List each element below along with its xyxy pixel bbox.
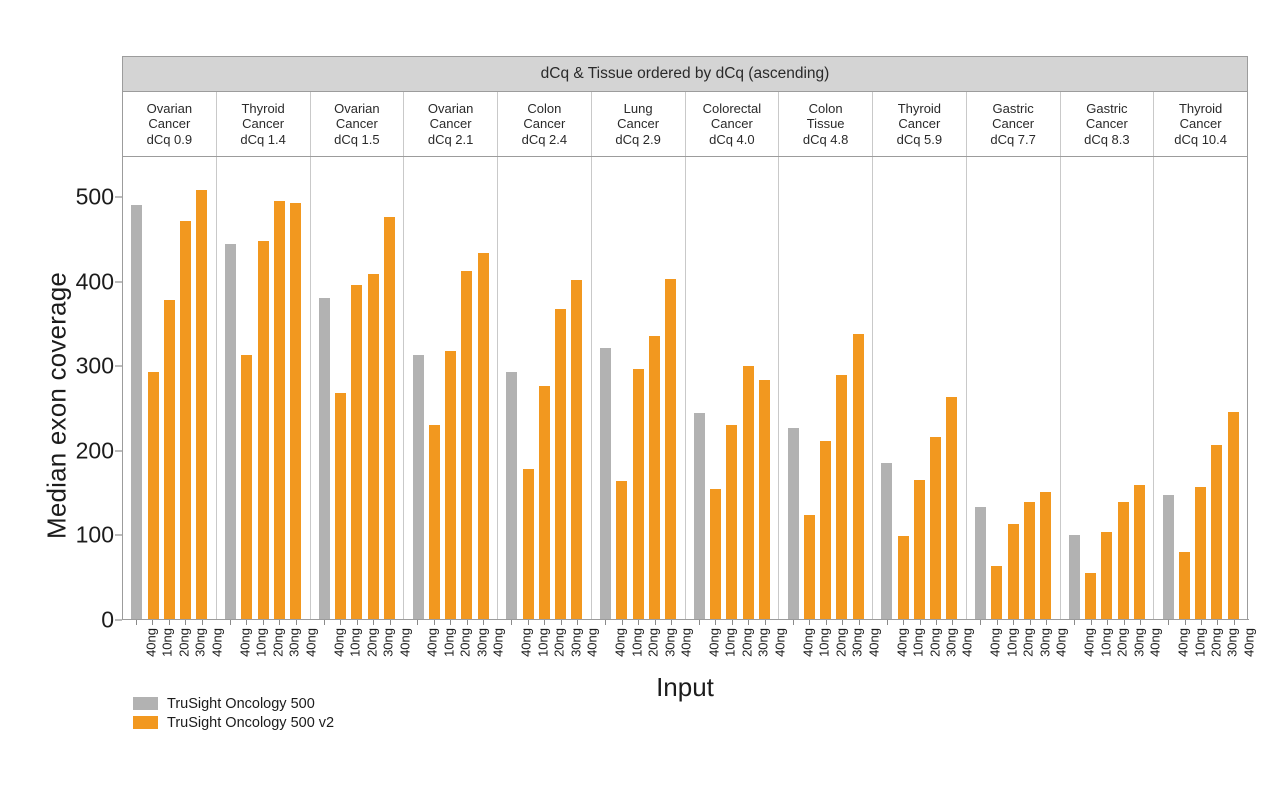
bar[interactable]: [539, 386, 550, 620]
bar-group: [217, 180, 310, 620]
facet-label: ColorectalCancerdCq 4.0: [686, 92, 780, 156]
x-tick: 20ng: [726, 620, 737, 675]
facet-tissue-line: Lung: [624, 101, 653, 117]
bar[interactable]: [148, 372, 159, 620]
x-tick: 40ng: [1135, 620, 1146, 675]
bar[interactable]: [131, 205, 142, 620]
bar[interactable]: [991, 566, 1002, 620]
x-tick-panel: 40ng10ng20ng30ng40ng: [591, 620, 685, 675]
facet-tissue-line: Ovarian: [428, 101, 474, 117]
x-tick-panel: 40ng10ng20ng30ng40ng: [779, 620, 873, 675]
x-tick: 20ng: [351, 620, 362, 675]
x-tick-label: 40ng: [772, 628, 787, 657]
x-tick-label: 40ng: [1241, 628, 1256, 657]
bar-group: [404, 180, 497, 620]
x-tick-mark: [1013, 620, 1014, 625]
y-tick-mark: [115, 620, 122, 621]
x-tick: 20ng: [163, 620, 174, 675]
x-tick-mark: [230, 620, 231, 625]
x-tick: 30ng: [274, 620, 285, 675]
bar[interactable]: [1024, 502, 1035, 620]
x-tick-mark: [246, 620, 247, 625]
x-tick: 10ng: [428, 620, 439, 675]
legend-item[interactable]: TruSight Oncology 500 v2: [133, 713, 334, 732]
x-tick-mark: [765, 620, 766, 625]
bar[interactable]: [633, 369, 644, 620]
x-tick-mark: [528, 620, 529, 625]
x-tick-mark: [263, 620, 264, 625]
bar-group: [123, 180, 216, 620]
x-tick: 40ng: [881, 620, 892, 675]
y-tick-label: 300: [76, 353, 114, 380]
x-tick-label: 40ng: [1148, 628, 1163, 657]
x-tick: 40ng: [1041, 620, 1052, 675]
x-tick-mark: [1124, 620, 1125, 625]
bar[interactable]: [1211, 445, 1222, 620]
x-tick-mark: [544, 620, 545, 625]
facet-tissue-line: Thyroid: [241, 101, 284, 117]
x-tick-mark: [483, 620, 484, 625]
x-tick-panel: 40ng10ng20ng30ng40ng: [1154, 620, 1248, 675]
facet-tissue-line: Colon: [527, 101, 561, 117]
x-tick-mark: [152, 620, 153, 625]
x-tick: 10ng: [710, 620, 721, 675]
bar[interactable]: [1101, 532, 1112, 620]
x-tick: 40ng: [196, 620, 207, 675]
bar[interactable]: [853, 334, 864, 620]
x-tick: 40ng: [600, 620, 611, 675]
bar[interactable]: [571, 280, 582, 620]
x-tick-mark: [887, 620, 888, 625]
median-exon-coverage-chart: Median exon coverage 0100200300400500 dC…: [0, 0, 1280, 791]
facet-panel: [967, 157, 1061, 620]
x-tick-mark: [980, 620, 981, 625]
x-tick: 30ng: [180, 620, 191, 675]
legend-swatch: [133, 697, 158, 710]
x-tick: 30ng: [1212, 620, 1223, 675]
facet-tissue-line: Cancer: [523, 116, 565, 132]
x-tick-panel: 40ng10ng20ng30ng40ng: [873, 620, 967, 675]
x-tick-mark: [561, 620, 562, 625]
facet-dcq-value: dCq 10.4: [1174, 132, 1227, 148]
facet-panel: [1154, 157, 1247, 620]
facet-dcq-value: dCq 0.9: [147, 132, 193, 148]
bar[interactable]: [196, 190, 207, 620]
facet-tissue-line: Cancer: [1180, 116, 1222, 132]
bar[interactable]: [351, 285, 362, 620]
bar[interactable]: [788, 428, 799, 620]
bar[interactable]: [429, 425, 440, 620]
bar[interactable]: [258, 241, 269, 620]
facet-tissue-line: Cancer: [336, 116, 378, 132]
bar-group: [873, 180, 966, 620]
x-tick-mark: [732, 620, 733, 625]
legend-item[interactable]: TruSight Oncology 500: [133, 694, 334, 713]
facet-label: OvarianCancerdCq 1.5: [311, 92, 405, 156]
x-tick-label: 40ng: [960, 628, 975, 657]
facet-tissue-line: Colorectal: [703, 101, 762, 117]
facet-dcq-value: dCq 5.9: [897, 132, 943, 148]
bar-group: [592, 180, 685, 620]
x-tick: 40ng: [1228, 620, 1239, 675]
x-tick-mark: [417, 620, 418, 625]
x-tick: 20ng: [633, 620, 644, 675]
bar[interactable]: [1040, 492, 1051, 620]
facet-tissue-line: Cancer: [898, 116, 940, 132]
y-tick-mark: [115, 281, 122, 282]
x-tick: 30ng: [743, 620, 754, 675]
facet-panel: [873, 157, 967, 620]
facet-tissue-line: Cancer: [711, 116, 753, 132]
facet-panel: [404, 157, 498, 620]
bar[interactable]: [368, 274, 379, 620]
facet-dcq-value: dCq 2.9: [615, 132, 661, 148]
y-tick-mark: [115, 366, 122, 367]
x-tick-mark: [279, 620, 280, 625]
facet-label: GastricCancerdCq 7.7: [967, 92, 1061, 156]
facet-label: OvarianCancerdCq 0.9: [123, 92, 217, 156]
x-tick: 40ng: [478, 620, 489, 675]
x-tick-mark: [622, 620, 623, 625]
bar[interactable]: [820, 441, 831, 620]
x-tick: 40ng: [412, 620, 423, 675]
facet-tissue-line: Cancer: [242, 116, 284, 132]
bar[interactable]: [335, 393, 346, 620]
facet-tissue-line: Cancer: [148, 116, 190, 132]
facet-label-row: OvarianCancerdCq 0.9ThyroidCancerdCq 1.4…: [123, 92, 1247, 157]
x-tick: 40ng: [947, 620, 958, 675]
bar[interactable]: [290, 203, 301, 620]
x-tick-panel: 40ng10ng20ng30ng40ng: [122, 620, 216, 675]
x-tick-mark: [185, 620, 186, 625]
bar[interactable]: [445, 351, 456, 620]
bar[interactable]: [384, 217, 395, 620]
x-tick-mark: [1074, 620, 1075, 625]
y-tick-label: 0: [101, 607, 114, 634]
x-tick-mark: [1140, 620, 1141, 625]
x-tick: 10ng: [1179, 620, 1190, 675]
y-tick-label: 400: [76, 268, 114, 295]
bar[interactable]: [600, 348, 611, 620]
x-tick-mark: [997, 620, 998, 625]
facet-tissue-line: Tissue: [807, 116, 845, 132]
x-tick-label: 40ng: [209, 628, 224, 657]
facet-tissue-line: Colon: [809, 101, 843, 117]
legend-label: TruSight Oncology 500 v2: [167, 715, 334, 731]
x-tick-mark: [859, 620, 860, 625]
bar[interactable]: [523, 469, 534, 620]
facet-dcq-value: dCq 2.4: [522, 132, 568, 148]
bar-group: [1154, 180, 1247, 620]
bar[interactable]: [180, 221, 191, 620]
bar[interactable]: [914, 480, 925, 620]
x-tick-mark: [1046, 620, 1047, 625]
facet-tissue-line: Ovarian: [334, 101, 380, 117]
x-tick-panel: 40ng10ng20ng30ng40ng: [685, 620, 779, 675]
bar[interactable]: [946, 397, 957, 620]
x-tick-panel: 40ng10ng20ng30ng40ng: [216, 620, 310, 675]
x-tick-mark: [826, 620, 827, 625]
legend-label: TruSight Oncology 500: [167, 696, 315, 712]
x-tick-panel: 40ng10ng20ng30ng40ng: [1060, 620, 1154, 675]
x-tick-mark: [1091, 620, 1092, 625]
facet-tissue-line: Thyroid: [898, 101, 941, 117]
x-tick: 10ng: [147, 620, 158, 675]
x-tick: 40ng: [1163, 620, 1174, 675]
x-tick-mark: [324, 620, 325, 625]
x-tick-mark: [169, 620, 170, 625]
bar[interactable]: [164, 300, 175, 620]
bar[interactable]: [1118, 502, 1129, 620]
facet-dcq-value: dCq 1.4: [240, 132, 286, 148]
facet-panel: [311, 157, 405, 620]
x-tick: 40ng: [853, 620, 864, 675]
x-tick: 10ng: [898, 620, 909, 675]
facet-panel: [1061, 157, 1155, 620]
x-tick: 10ng: [616, 620, 627, 675]
x-tick-mark: [920, 620, 921, 625]
x-tick-mark: [511, 620, 512, 625]
x-tick-panel: 40ng10ng20ng30ng40ng: [403, 620, 497, 675]
x-tick-label: 40ng: [866, 628, 881, 657]
x-tick: 20ng: [257, 620, 268, 675]
x-tick-mark: [1107, 620, 1108, 625]
x-tick: 30ng: [649, 620, 660, 675]
x-tick: 10ng: [991, 620, 1002, 675]
facet-dcq-value: dCq 7.7: [990, 132, 1036, 148]
x-tick-mark: [390, 620, 391, 625]
facet-panel: [217, 157, 311, 620]
x-tick-panel: 40ng10ng20ng30ng40ng: [497, 620, 591, 675]
facet-dcq-value: dCq 4.0: [709, 132, 755, 148]
x-tick: 20ng: [539, 620, 550, 675]
bar[interactable]: [743, 366, 754, 620]
x-tick-label-row: 40ng10ng20ng30ng40ng40ng10ng20ng30ng40ng…: [122, 620, 1248, 675]
bar[interactable]: [1179, 552, 1190, 620]
facet-tissue-line: Cancer: [617, 116, 659, 132]
x-tick: 40ng: [975, 620, 986, 675]
x-tick-mark: [903, 620, 904, 625]
facet-dcq-value: dCq 1.5: [334, 132, 380, 148]
x-tick: 40ng: [384, 620, 395, 675]
facet-tissue-line: Cancer: [992, 116, 1034, 132]
bar[interactable]: [1085, 573, 1096, 620]
x-tick-mark: [699, 620, 700, 625]
x-tick-mark: [136, 620, 137, 625]
facet-dcq-value: dCq 8.3: [1084, 132, 1130, 148]
x-tick-mark: [671, 620, 672, 625]
facet-panel: [123, 157, 217, 620]
facet-label: ColonCancerdCq 2.4: [498, 92, 592, 156]
x-tick-mark: [467, 620, 468, 625]
x-tick-mark: [1234, 620, 1235, 625]
x-tick-mark: [1185, 620, 1186, 625]
facet-plot-row: [123, 157, 1247, 620]
x-tick: 20ng: [914, 620, 925, 675]
facet-dcq-value: dCq 4.8: [803, 132, 849, 148]
y-tick-mark: [115, 450, 122, 451]
facet-label: GastricCancerdCq 8.3: [1061, 92, 1155, 156]
x-tick: 10ng: [1085, 620, 1096, 675]
y-tick-label: 200: [76, 437, 114, 464]
bar[interactable]: [555, 309, 566, 620]
facet-tissue-line: Ovarian: [147, 101, 193, 117]
bar[interactable]: [1195, 487, 1206, 620]
x-tick-mark: [748, 620, 749, 625]
facet-panel: [592, 157, 686, 620]
x-tick: 40ng: [318, 620, 329, 675]
bar[interactable]: [898, 536, 909, 620]
bar[interactable]: [478, 253, 489, 620]
bar-group: [686, 180, 779, 620]
x-tick: 20ng: [1196, 620, 1207, 675]
x-tick-mark: [715, 620, 716, 625]
x-tick: 20ng: [820, 620, 831, 675]
facet-tissue-line: Gastric: [1086, 101, 1127, 117]
x-tick: 30ng: [1118, 620, 1129, 675]
bar[interactable]: [616, 481, 627, 620]
bar[interactable]: [759, 380, 770, 620]
x-tick: 30ng: [461, 620, 472, 675]
x-tick: 40ng: [1069, 620, 1080, 675]
bar[interactable]: [413, 355, 424, 620]
x-tick-mark: [373, 620, 374, 625]
x-tick-mark: [952, 620, 953, 625]
x-tick-label: 40ng: [678, 628, 693, 657]
bar[interactable]: [1069, 535, 1080, 620]
x-tick-mark: [809, 620, 810, 625]
bar[interactable]: [930, 437, 941, 620]
y-tick-label: 500: [76, 183, 114, 210]
x-tick: 40ng: [572, 620, 583, 675]
x-tick-mark: [1217, 620, 1218, 625]
bar[interactable]: [319, 298, 330, 620]
x-tick: 40ng: [224, 620, 235, 675]
bar-group: [779, 180, 872, 620]
bar[interactable]: [665, 279, 676, 620]
x-tick-mark: [340, 620, 341, 625]
x-tick-mark: [793, 620, 794, 625]
x-tick-mark: [434, 620, 435, 625]
legend-swatch: [133, 716, 158, 729]
facet-label: OvarianCancerdCq 2.1: [404, 92, 498, 156]
bar[interactable]: [241, 355, 252, 620]
facet-label: LungCancerdCq 2.9: [592, 92, 686, 156]
x-tick: 30ng: [931, 620, 942, 675]
x-tick: 40ng: [665, 620, 676, 675]
facet-tissue-line: Cancer: [430, 116, 472, 132]
facet-label: ThyroidCancerdCq 5.9: [873, 92, 967, 156]
x-tick: 30ng: [555, 620, 566, 675]
x-tick-mark: [450, 620, 451, 625]
x-tick: 10ng: [335, 620, 346, 675]
facet-label: ThyroidCancerdCq 1.4: [217, 92, 311, 156]
y-axis: 0100200300400500: [60, 180, 122, 620]
x-tick-mark: [1201, 620, 1202, 625]
bar-group: [967, 180, 1060, 620]
x-tick-mark: [936, 620, 937, 625]
bar[interactable]: [804, 515, 815, 620]
legend: TruSight Oncology 500TruSight Oncology 5…: [133, 694, 334, 732]
bar-group: [311, 180, 404, 620]
plot-frame: dCq & Tissue ordered by dCq (ascending) …: [122, 56, 1248, 620]
x-tick-mark: [1030, 620, 1031, 625]
bar-group: [498, 180, 591, 620]
y-tick-label: 100: [76, 522, 114, 549]
x-tick-label: 40ng: [491, 628, 506, 657]
y-tick-mark: [115, 196, 122, 197]
x-tick: 40ng: [759, 620, 770, 675]
bar[interactable]: [881, 463, 892, 620]
x-tick: 40ng: [130, 620, 141, 675]
facet-dcq-value: dCq 2.1: [428, 132, 474, 148]
bar[interactable]: [694, 413, 705, 620]
bar[interactable]: [649, 336, 660, 620]
y-tick-mark: [115, 535, 122, 536]
x-tick-mark: [1168, 620, 1169, 625]
facet-strip-title: dCq & Tissue ordered by dCq (ascending): [123, 57, 1247, 92]
x-tick-label: 40ng: [585, 628, 600, 657]
x-tick: 10ng: [804, 620, 815, 675]
x-tick: 10ng: [522, 620, 533, 675]
x-tick-mark: [357, 620, 358, 625]
x-tick-panel: 40ng10ng20ng30ng40ng: [310, 620, 404, 675]
bar[interactable]: [1134, 485, 1145, 620]
facet-tissue-line: Thyroid: [1179, 101, 1222, 117]
bar[interactable]: [225, 244, 236, 620]
x-tick: 40ng: [290, 620, 301, 675]
x-tick-mark: [655, 620, 656, 625]
facet-panel: [779, 157, 873, 620]
x-tick-label: 40ng: [303, 628, 318, 657]
facet-panel: [498, 157, 592, 620]
bar[interactable]: [461, 271, 472, 620]
x-tick: 30ng: [1024, 620, 1035, 675]
x-tick: 20ng: [445, 620, 456, 675]
bar-group: [1061, 180, 1154, 620]
x-tick-mark: [202, 620, 203, 625]
facet-tissue-line: Cancer: [1086, 116, 1128, 132]
bar[interactable]: [836, 375, 847, 620]
x-tick: 40ng: [506, 620, 517, 675]
x-tick-mark: [577, 620, 578, 625]
x-tick-mark: [296, 620, 297, 625]
x-tick: 40ng: [787, 620, 798, 675]
bar[interactable]: [274, 201, 285, 620]
x-tick-mark: [842, 620, 843, 625]
x-tick-panel: 40ng10ng20ng30ng40ng: [966, 620, 1060, 675]
facet-label: ColonTissuedCq 4.8: [779, 92, 873, 156]
x-tick: 20ng: [1102, 620, 1113, 675]
facet-tissue-line: Gastric: [993, 101, 1034, 117]
bar[interactable]: [1008, 524, 1019, 620]
facet-label: ThyroidCancerdCq 10.4: [1154, 92, 1247, 156]
bar[interactable]: [710, 489, 721, 620]
bar[interactable]: [975, 507, 986, 620]
x-tick-label: 40ng: [397, 628, 412, 657]
facet-panel: [686, 157, 780, 620]
x-tick-mark: [605, 620, 606, 625]
x-tick-mark: [638, 620, 639, 625]
x-tick: 40ng: [693, 620, 704, 675]
bar[interactable]: [506, 372, 517, 620]
bar[interactable]: [1163, 495, 1174, 620]
x-tick: 10ng: [241, 620, 252, 675]
bar[interactable]: [726, 425, 737, 620]
x-tick-label: 40ng: [1054, 628, 1069, 657]
bar[interactable]: [1228, 412, 1239, 620]
x-tick: 30ng: [368, 620, 379, 675]
